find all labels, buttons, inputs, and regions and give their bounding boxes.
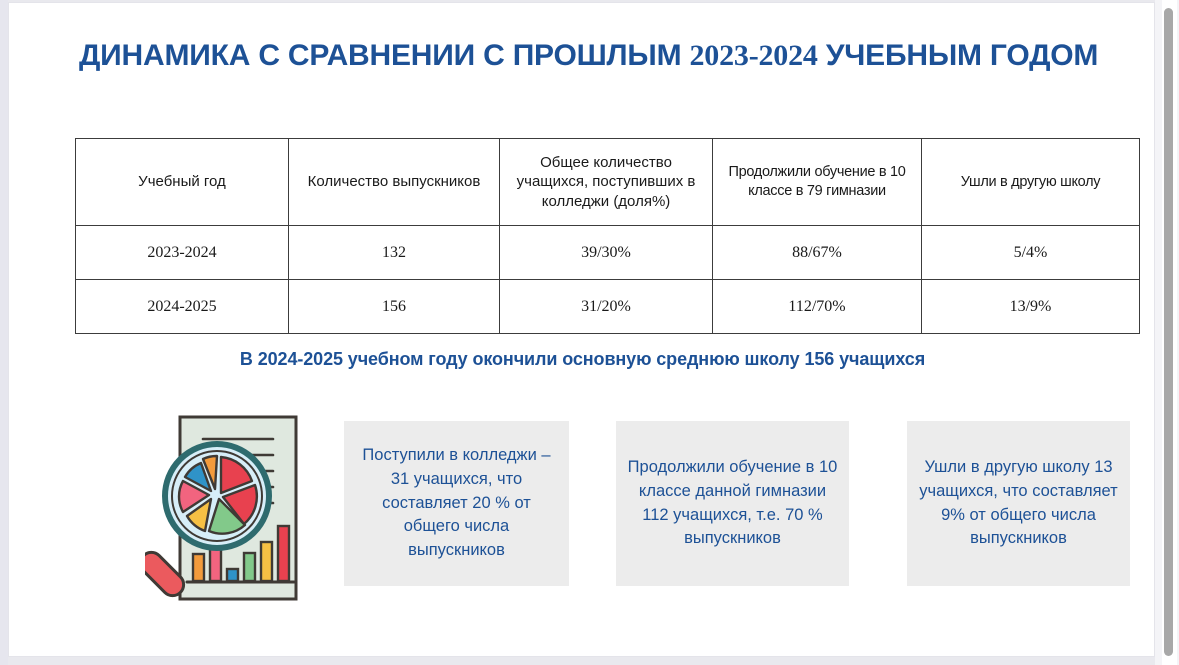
- table-header-academic-year: Учебный год: [76, 139, 289, 226]
- info-box-grade-10-text: Продолжили обучение в 10 классе данной г…: [626, 456, 839, 551]
- table-header-left-school: Ушли в другую школу: [922, 139, 1140, 226]
- cell-college: 39/30%: [500, 226, 713, 280]
- title-years: 2023-2024: [690, 39, 818, 72]
- vertical-scrollbar-track[interactable]: [1162, 0, 1177, 665]
- cell-college: 31/20%: [500, 280, 713, 334]
- cell-year: 2023-2024: [76, 226, 289, 280]
- info-box-college-text: Поступили в колледжи – 31 учащихся, что …: [354, 444, 559, 563]
- info-box-left-school: Ушли в другую школу 13 учащихся, что сос…: [907, 421, 1130, 586]
- document-with-charts-and-magnifier-icon: [145, 411, 301, 603]
- table-header-continued-grade-10: Продолжили обучение в 10 классе в 79 гим…: [713, 139, 922, 226]
- cell-left-school: 13/9%: [922, 280, 1140, 334]
- cell-left-school: 5/4%: [922, 226, 1140, 280]
- table-header-row: Учебный год Количество выпускников Общее…: [76, 139, 1140, 226]
- cell-grade10: 112/70%: [713, 280, 922, 334]
- info-box-left-school-text: Ушли в другую школу 13 учащихся, что сос…: [917, 456, 1120, 551]
- presentation-slide: ДИНАМИКА С СРАВНЕНИИ С ПРОШЛЫМ 2023-2024…: [8, 2, 1155, 657]
- table-header-college-admissions: Общее количество учащихся, поступивших в…: [500, 139, 713, 226]
- cell-grade10: 88/67%: [713, 226, 922, 280]
- page-left-margin: [0, 0, 8, 665]
- chart-analysis-illustration: [145, 411, 301, 603]
- title-part-before: ДИНАМИКА С СРАВНЕНИИ С ПРОШЛЫМ: [79, 39, 690, 72]
- summary-headline: В 2024-2025 учебном году окончили основн…: [9, 349, 1155, 370]
- cell-graduates: 156: [289, 280, 500, 334]
- browser-viewport: ДИНАМИКА С СРАВНЕНИИ С ПРОШЛЫМ 2023-2024…: [0, 0, 1179, 665]
- table-row: 2024-2025 156 31/20% 112/70% 13/9%: [76, 280, 1140, 334]
- title-part-after: УЧЕБНЫМ ГОДОМ: [818, 39, 1098, 72]
- table-header-graduates-count: Количество выпускников: [289, 139, 500, 226]
- comparison-table: Учебный год Количество выпускников Общее…: [75, 138, 1140, 334]
- info-box-college: Поступили в колледжи – 31 учащихся, что …: [344, 421, 569, 586]
- cell-year: 2024-2025: [76, 280, 289, 334]
- table-row: 2023-2024 132 39/30% 88/67% 5/4%: [76, 226, 1140, 280]
- cell-graduates: 132: [289, 226, 500, 280]
- page-title: ДИНАМИКА С СРАВНЕНИИ С ПРОШЛЫМ 2023-2024…: [79, 39, 1119, 73]
- info-box-grade-10: Продолжили обучение в 10 классе данной г…: [616, 421, 849, 586]
- vertical-scrollbar-thumb[interactable]: [1164, 8, 1173, 656]
